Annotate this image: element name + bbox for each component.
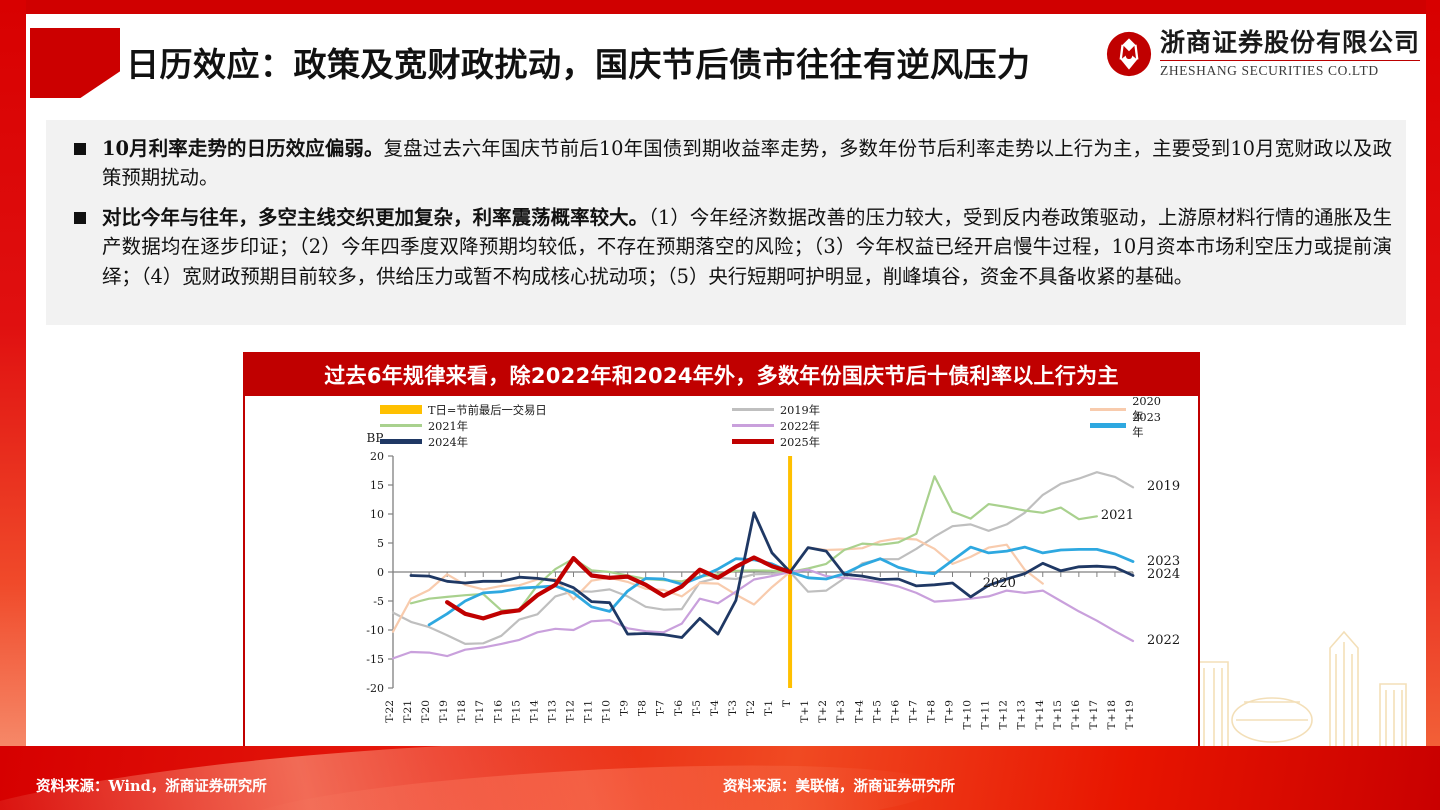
slide-root: 日历效应：政策及宽财政扰动，国庆节后债市往往有逆风压力 浙商证券股份有限公司 Z…: [0, 0, 1440, 810]
legend-item-2019年[interactable]: 2019年: [732, 402, 820, 418]
background-right-band: [1426, 0, 1440, 810]
chart-legend: T日=节前最后一交易日2019年2020年2021年2022年2023年2024…: [380, 402, 1080, 450]
x-tick-label: T+1: [799, 700, 811, 723]
series-end-label-2019: 2019: [1147, 479, 1180, 494]
y-tick-label: 20: [370, 450, 384, 463]
background-top-band: [0, 0, 1440, 14]
series-line-2023年: [429, 547, 1133, 625]
legend-item-2023年[interactable]: 2023年: [1090, 411, 1167, 440]
bullet-2-bold: 对比今年与往年，多空主线交织更加复杂，利率震荡概率较大。: [102, 206, 648, 229]
x-tick-label: T+8: [925, 700, 937, 723]
legend-swatch-icon: [380, 439, 422, 444]
series-end-label-2024: 2024: [1147, 567, 1180, 582]
x-tick-label: T+17: [1088, 700, 1100, 729]
zheshang-logo-icon: [1106, 31, 1152, 77]
legend-item-2021年[interactable]: 2021年: [380, 418, 468, 434]
x-tick-label: T+11: [980, 700, 992, 729]
series-end-label-2022: 2022: [1147, 633, 1180, 648]
x-tick-label: T+18: [1106, 700, 1118, 730]
x-tick-label: T+2: [817, 700, 829, 723]
legend-label: 2024年: [428, 434, 468, 450]
x-tick-label: T-4: [709, 700, 721, 716]
series-end-label-2021: 2021: [1101, 508, 1134, 523]
x-tick-label: T-15: [510, 700, 522, 723]
bullet-square-icon: [74, 143, 86, 155]
legend-label: 2022年: [780, 418, 820, 434]
bullet-text-1: 10月利率走势的日历效应偏弱。复盘过去六年国庆节前后10年国债到期收益率走势，多…: [102, 134, 1392, 193]
x-tick-label: T-9: [619, 700, 631, 716]
x-tick-label: T+19: [1124, 700, 1136, 730]
bullet-text-2: 对比今年与往年，多空主线交织更加复杂，利率震荡概率较大。（1）今年经济数据改善的…: [102, 203, 1392, 291]
legend-swatch-icon: [380, 405, 422, 414]
page-title: 日历效应：政策及宽财政扰动，国庆节后债市往往有逆风压力: [126, 38, 1031, 86]
summary-textbox: 10月利率走势的日历效应偏弱。复盘过去六年国庆节前后10年国债到期收益率走势，多…: [46, 120, 1406, 325]
x-tick-label: T+6: [889, 700, 901, 723]
legend-item-2022年[interactable]: 2022年: [732, 418, 820, 434]
x-tick-label: T-12: [564, 700, 576, 723]
x-tick-label: T+16: [1070, 700, 1082, 730]
footer-source-left: 资料来源：Wind，浙商证券研究所: [36, 775, 267, 796]
legend-item-2024年[interactable]: 2024年: [380, 434, 468, 450]
chart-plot-region: T日=节前最后一交易日2019年2020年2021年2022年2023年2024…: [245, 396, 1198, 758]
logo-company-name-en: ZHESHANG SECURITIES CO.LTD: [1160, 60, 1420, 78]
bullet-item: 10月利率走势的日历效应偏弱。复盘过去六年国庆节前后10年国债到期收益率走势，多…: [64, 134, 1406, 193]
x-tick-label: T+12: [998, 700, 1010, 729]
y-tick-label: -20: [366, 682, 384, 695]
y-tick-label: -15: [366, 653, 384, 666]
footer-source-right: 资料来源：美联储，浙商证券研究所: [723, 775, 955, 796]
y-tick-label: 5: [377, 537, 384, 550]
series-line-2019年: [393, 472, 1133, 644]
x-tick-label: T-2: [745, 700, 757, 716]
x-tick-label: T+15: [1052, 700, 1064, 729]
x-tick-label: T+9: [944, 700, 956, 723]
x-tick-label: T-13: [546, 700, 558, 723]
legend-row: 2024年2025年: [380, 434, 1080, 449]
legend-label: T日=节前最后一交易日: [428, 402, 547, 418]
x-tick-label: T-19: [438, 700, 450, 723]
chart-card: 过去6年规律来看，除2022年和2024年外，多数年份国庆节后十债利率以上行为主…: [243, 352, 1200, 760]
x-tick-label: T-7: [655, 700, 667, 716]
slide-header: 日历效应：政策及宽财政扰动，国庆节后债市往往有逆风压力 浙商证券股份有限公司 Z…: [30, 28, 1420, 98]
chart-title-text: 过去6年规律来看，除2022年和2024年外，多数年份国庆节后十债利率以上行为主: [324, 360, 1119, 390]
y-tick-label: -10: [366, 624, 384, 637]
legend-item-T日=节前最后一交易日[interactable]: T日=节前最后一交易日: [380, 402, 547, 418]
chart-title-bar: 过去6年规律来看，除2022年和2024年外，多数年份国庆节后十债利率以上行为主: [245, 354, 1198, 396]
x-tick-label: T-5: [691, 700, 703, 716]
series-end-label-2020: 2020: [983, 576, 1016, 591]
y-tick-label: 15: [370, 479, 384, 492]
x-tick-label: T-14: [528, 700, 540, 723]
x-tick-label: T+5: [871, 700, 883, 723]
x-tick-label: T-6: [673, 700, 685, 716]
x-tick-label: T-21: [402, 700, 414, 723]
x-tick-label: T-1: [763, 700, 775, 716]
legend-swatch-icon: [1090, 423, 1126, 428]
x-tick-label: T-11: [583, 700, 595, 723]
series-end-label-2023: 2023: [1147, 554, 1180, 569]
legend-swatch-icon: [380, 424, 422, 427]
x-tick-label: T-17: [474, 700, 486, 723]
y-tick-label: 0: [377, 566, 384, 579]
bullet-item: 对比今年与往年，多空主线交织更加复杂，利率震荡概率较大。（1）今年经济数据改善的…: [64, 203, 1406, 291]
x-tick-label: T-20: [420, 700, 432, 723]
legend-label: 2019年: [780, 402, 820, 418]
bullet-square-icon: [74, 212, 86, 224]
legend-item-2025年[interactable]: 2025年: [732, 434, 820, 450]
x-tick-label: T+10: [962, 700, 974, 730]
header-flag-shape: [30, 28, 120, 98]
legend-row: T日=节前最后一交易日2019年2020年: [380, 402, 1080, 417]
logo-company-name-cn: 浙商证券股份有限公司: [1160, 30, 1420, 55]
x-tick-label: T-16: [492, 700, 504, 723]
x-tick-label: T-8: [637, 700, 649, 716]
x-tick-label: T+14: [1034, 700, 1046, 730]
x-tick-label: T-22: [384, 700, 396, 723]
x-tick-label: T+13: [1016, 700, 1028, 729]
bullet-1-bold: 10月利率走势的日历效应偏弱。: [102, 137, 384, 160]
line-chart-svg: 20151050-5-10-15-20BPT-22T-21T-20T-19T-1…: [245, 396, 1198, 758]
x-tick-label: T+3: [835, 700, 847, 723]
legend-label: 2025年: [780, 434, 820, 450]
legend-label: 2021年: [428, 418, 468, 434]
legend-row: 2021年2022年2023年: [380, 418, 1080, 433]
y-tick-label: -5: [373, 595, 384, 608]
x-tick-label: T+7: [907, 700, 919, 723]
x-tick-label: T-10: [601, 700, 613, 723]
legend-swatch-icon: [732, 408, 774, 411]
legend-swatch-icon: [732, 439, 774, 444]
background-left-band: [0, 0, 26, 810]
x-tick-label: T: [781, 700, 793, 707]
y-tick-label: 10: [370, 508, 384, 521]
legend-label: 2023年: [1132, 411, 1167, 440]
x-tick-label: T+4: [853, 700, 865, 723]
x-tick-label: T-3: [727, 700, 739, 716]
legend-swatch-icon: [732, 424, 774, 427]
company-logo: 浙商证券股份有限公司 ZHESHANG SECURITIES CO.LTD: [1106, 30, 1420, 78]
x-tick-label: T-18: [456, 700, 468, 723]
